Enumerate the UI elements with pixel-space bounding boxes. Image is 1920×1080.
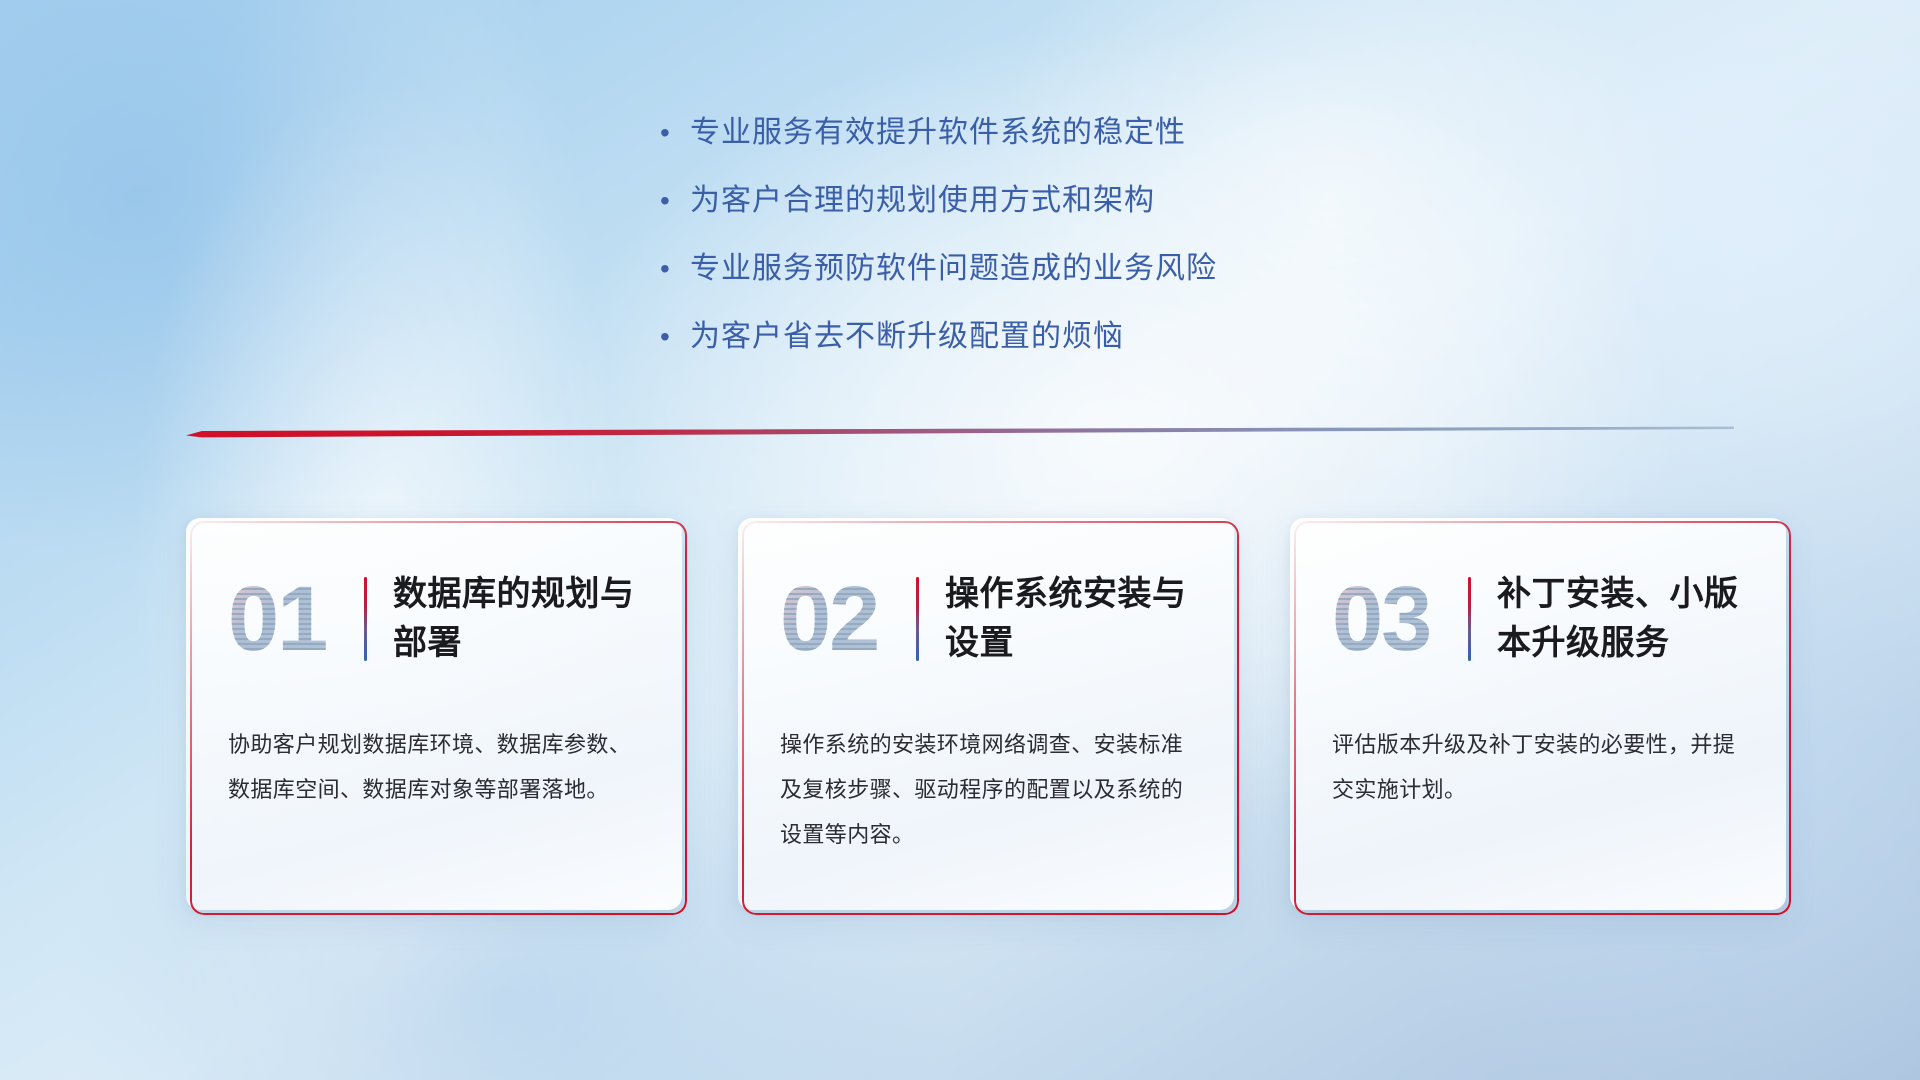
bullet-marker-icon: • — [660, 314, 690, 360]
bullet-item: • 专业服务预防软件问题造成的业务风险 — [660, 246, 1480, 292]
card-header: 03 补丁安装、小版本升级服务 — [1332, 560, 1746, 678]
bullet-list: • 专业服务有效提升软件系统的稳定性 • 为客户合理的规划使用方式和架构 • 专… — [660, 110, 1480, 382]
card-title-divider — [364, 577, 367, 661]
card-number: 02 — [780, 573, 912, 665]
card-title: 操作系统安装与设置 — [945, 570, 1194, 668]
section-divider — [186, 426, 1734, 444]
card-top-highlight — [1300, 518, 1776, 519]
card-top-highlight — [748, 518, 1224, 519]
bullet-marker-icon: • — [660, 110, 690, 156]
bullet-item: • 专业服务有效提升软件系统的稳定性 — [660, 110, 1480, 156]
service-card[interactable]: 02 操作系统安装与设置 操作系统的安装环境网络调查、安装标准及复核步骤、驱动程… — [738, 518, 1234, 910]
card-top-highlight — [196, 518, 672, 519]
card-title-divider — [916, 577, 919, 661]
bullet-item-text: 为客户省去不断升级配置的烦恼 — [690, 314, 1124, 360]
card-header: 02 操作系统安装与设置 — [780, 560, 1194, 678]
card-number: 01 — [228, 573, 360, 665]
card-title-divider — [1468, 577, 1471, 661]
background-blob-top-left — [0, 0, 520, 580]
card-description: 协助客户规划数据库环境、数据库参数、数据库空间、数据库对象等部署落地。 — [228, 722, 642, 812]
bullet-marker-icon: • — [660, 246, 690, 292]
slide-canvas: • 专业服务有效提升软件系统的稳定性 • 为客户合理的规划使用方式和架构 • 专… — [0, 0, 1920, 1080]
card-group: 01 数据库的规划与部署 协助客户规划数据库环境、数据库参数、数据库空间、数据库… — [186, 518, 1786, 910]
bullet-item-text: 专业服务预防软件问题造成的业务风险 — [690, 246, 1217, 292]
bullet-item: • 为客户合理的规划使用方式和架构 — [660, 178, 1480, 224]
card-number: 03 — [1332, 573, 1464, 665]
bullet-item-text: 为客户合理的规划使用方式和架构 — [690, 178, 1155, 224]
bullet-item-text: 专业服务有效提升软件系统的稳定性 — [690, 110, 1186, 156]
service-card[interactable]: 03 补丁安装、小版本升级服务 评估版本升级及补丁安装的必要性，并提交实施计划。 — [1290, 518, 1786, 910]
card-title: 数据库的规划与部署 — [393, 570, 642, 668]
service-card[interactable]: 01 数据库的规划与部署 协助客户规划数据库环境、数据库参数、数据库空间、数据库… — [186, 518, 682, 910]
card-description: 评估版本升级及补丁安装的必要性，并提交实施计划。 — [1332, 722, 1746, 812]
bullet-item: • 为客户省去不断升级配置的烦恼 — [660, 314, 1480, 360]
bullet-marker-icon: • — [660, 178, 690, 224]
card-header: 01 数据库的规划与部署 — [228, 560, 642, 678]
card-title: 补丁安装、小版本升级服务 — [1497, 570, 1746, 668]
card-description: 操作系统的安装环境网络调查、安装标准及复核步骤、驱动程序的配置以及系统的设置等内… — [780, 722, 1194, 857]
